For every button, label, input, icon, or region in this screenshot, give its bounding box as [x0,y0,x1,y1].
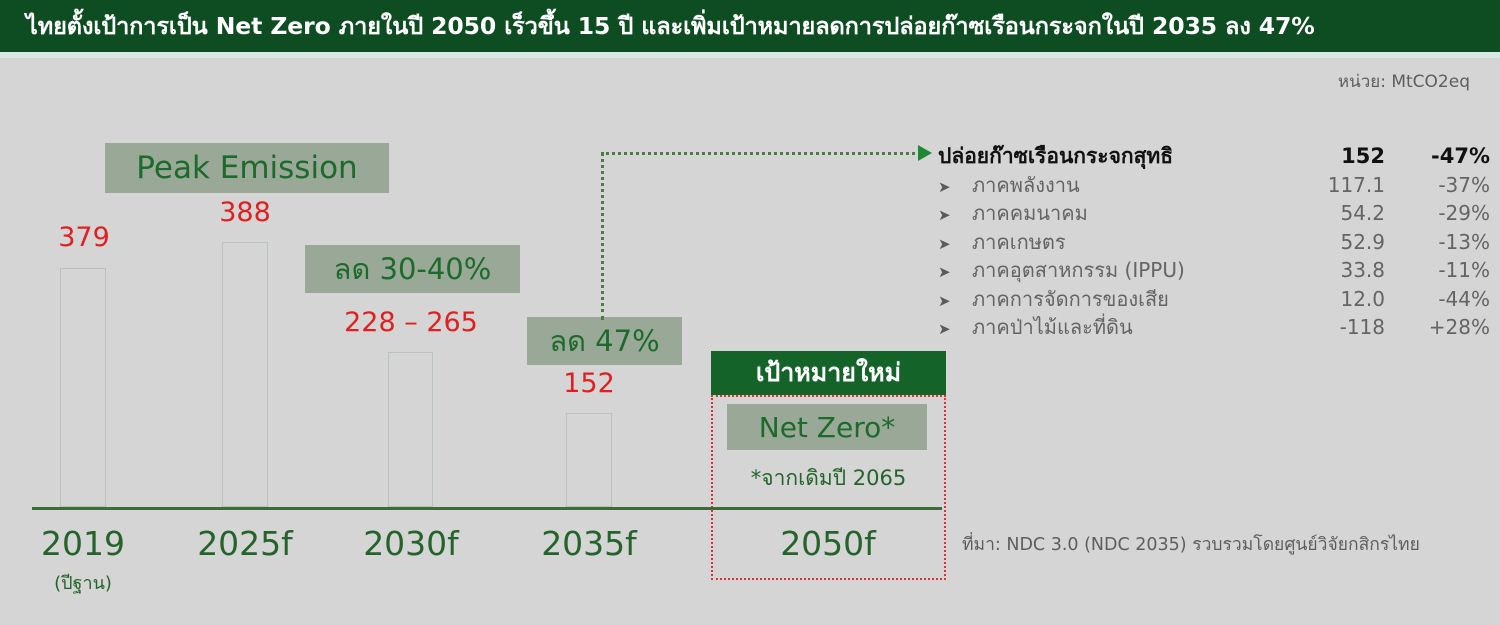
x-label-2025f: 2025f [180,524,310,563]
x-label-2030f: 2030f [346,524,476,563]
table-row-pct: -29% [1385,201,1490,225]
table-row-label: ภาคอุตสาหกรรม (IPPU) [972,258,1185,282]
table-row-value: 33.8 [1293,258,1385,282]
new-target-header: เป้าหมายใหม่ [711,351,946,395]
table-row-value: -118 [1293,315,1385,339]
table-header-pct: -47% [1385,144,1490,168]
table-row-value: 52.9 [1293,230,1385,254]
bullet-arrow-icon: ➤ [938,178,972,196]
x-label-2035f: 2035f [524,524,654,563]
callout-peak-emission: Peak Emission [105,143,389,193]
table-row-value: 117.1 [1293,173,1385,197]
unit-note: หน่วย: MtCO2eq [1338,68,1470,95]
table-header-value: 152 [1293,144,1385,168]
header-underline [0,52,1500,58]
table-row-pct: -37% [1385,173,1490,197]
infographic-page: ไทยตั้งเป้าการเป็น Net Zero ภายในปี 2050… [0,0,1500,625]
bar-2025f [222,242,268,507]
table-row: ➤ภาคอุตสาหกรรม (IPPU) 33.8 -11% [938,254,1490,283]
connector-horizontal-line [601,152,921,155]
table-row-value: 54.2 [1293,201,1385,225]
x-label-2019: 2019 [18,524,148,563]
table-row-label: ภาคเกษตร [972,230,1066,254]
table-row-pct: -11% [1385,258,1490,282]
bullet-arrow-icon: ➤ [938,320,972,338]
table-row-pct: -44% [1385,287,1490,311]
table-row-label: ภาคป่าไม้และที่ดิน [972,315,1133,339]
table-row-label: ภาคการจัดการของเสีย [972,287,1169,311]
bar-2030f [388,352,433,507]
bullet-arrow-icon: ➤ [938,292,972,310]
emissions-table: ปล่อยก๊าซเรือนกระจกสุทธิ 152 -47% ➤ภาคพล… [938,140,1490,340]
callout-reduce-2035: ลด 47% [527,317,682,365]
net-zero-note: *จากเดิมปี 2065 [711,462,946,495]
table-row: ➤ภาคคมนาคม 54.2 -29% [938,197,1490,226]
table-row: ➤ภาคเกษตร 52.9 -13% [938,226,1490,255]
bullet-arrow-icon: ➤ [938,206,972,224]
table-header-row: ปล่อยก๊าซเรือนกระจกสุทธิ 152 -47% [938,140,1490,169]
source-note: ที่มา: NDC 3.0 (NDC 2035) รวบรวมโดยศูนย์… [962,530,1420,558]
bullet-arrow-icon: ➤ [938,263,972,281]
table-row-pct: -13% [1385,230,1490,254]
callout-net-zero: Net Zero* [727,404,927,450]
connector-vertical-line [601,152,604,320]
x-sublabel-2019: (ปีฐาน) [18,568,148,597]
table-row-label: ภาคคมนาคม [972,201,1088,225]
table-row: ➤ภาคการจัดการของเสีย 12.0 -44% [938,283,1490,312]
bar-2035f [566,413,612,507]
bullet-arrow-icon: ➤ [938,235,972,253]
x-label-2050f: 2050f [763,524,893,563]
connector-arrow-icon [918,145,932,161]
axis-baseline [32,507,942,510]
bar-value-2025f: 388 [199,197,291,228]
table-row: ➤ภาคพลังงาน 117.1 -37% [938,169,1490,198]
page-title: ไทยตั้งเป้าการเป็น Net Zero ภายในปี 2050… [0,8,1315,45]
bar-value-2035f: 152 [543,368,635,399]
header-band: ไทยตั้งเป้าการเป็น Net Zero ภายในปี 2050… [0,0,1500,52]
bar-value-2019: 379 [38,222,130,253]
table-row-value: 12.0 [1293,287,1385,311]
table-row: ➤ภาคป่าไม้และที่ดิน -118 +28% [938,311,1490,340]
bar-2019 [60,268,106,507]
bar-value-2030f: 228 – 265 [325,307,497,338]
callout-reduce-2030: ลด 30-40% [305,245,520,293]
table-row-label: ภาคพลังงาน [972,173,1080,197]
table-row-pct: +28% [1385,315,1490,339]
